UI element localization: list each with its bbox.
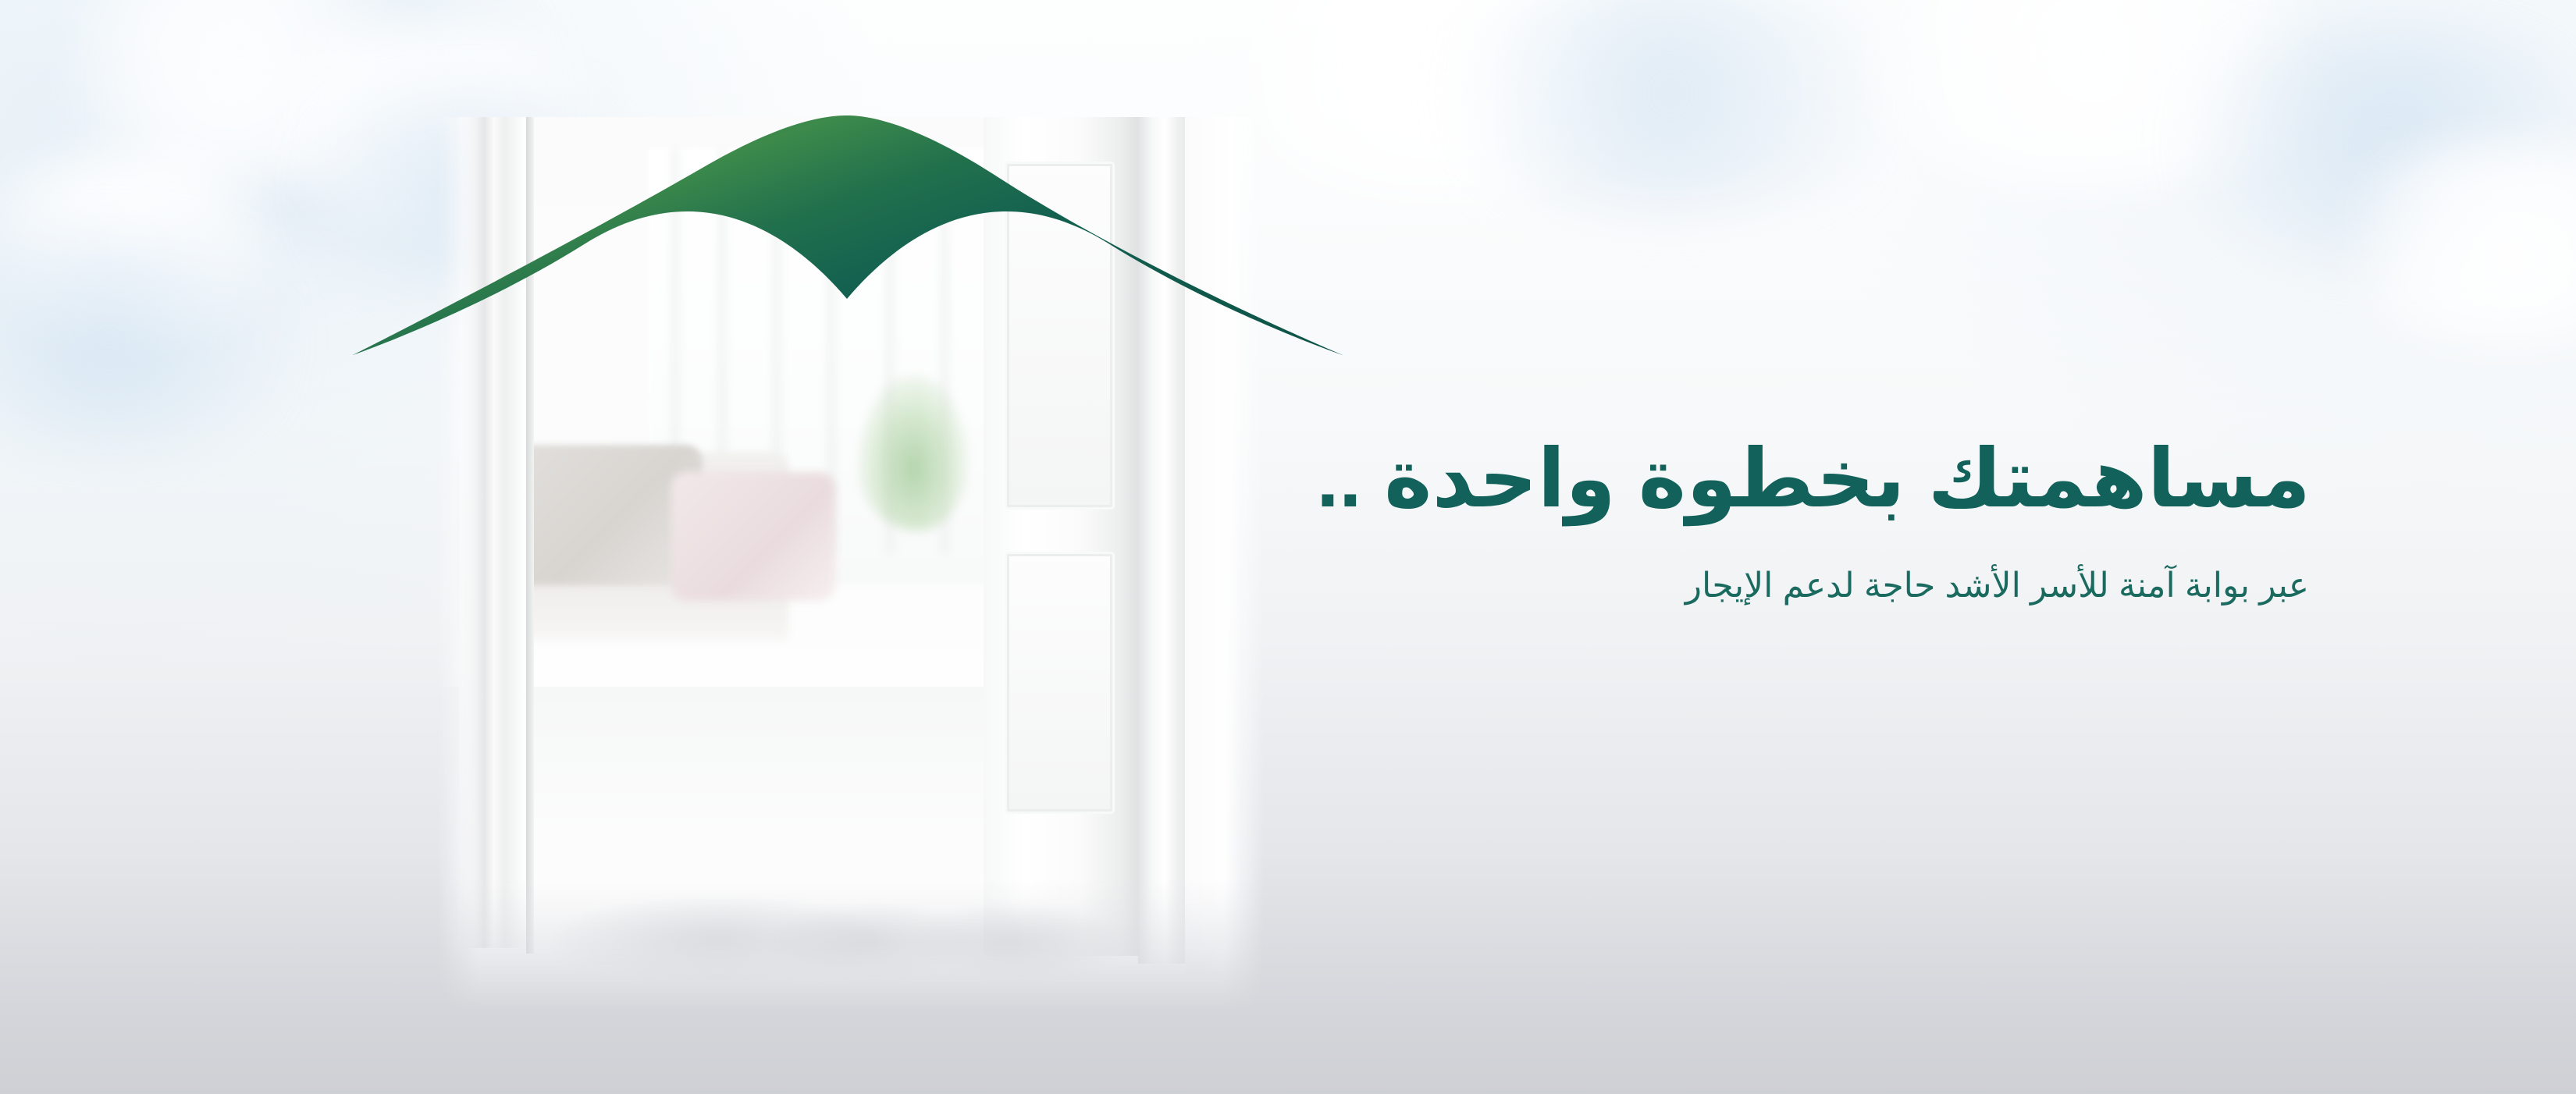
door-right-panel xyxy=(984,117,1140,956)
page-subtitle: عبر بوابة آمنة للأسر الأشد حاجة لدعم الإ… xyxy=(1685,563,2309,608)
door-panel-top xyxy=(1007,164,1112,507)
door-frame-left xyxy=(459,117,526,948)
wall-right xyxy=(1185,117,1265,975)
banner-root: مساهمتك بخطوة واحدة .. عبر بوابة آمنة لل… xyxy=(0,0,2576,1094)
door-panel-bottom xyxy=(1007,554,1112,812)
page-title: مساهمتك بخطوة واحدة .. xyxy=(1317,434,2311,524)
family-photo xyxy=(437,117,1265,1022)
door-jamb xyxy=(1138,117,1187,964)
shadow-woman xyxy=(913,905,1116,979)
door-frame-left-edge xyxy=(526,117,534,954)
pillow-2 xyxy=(671,472,835,601)
